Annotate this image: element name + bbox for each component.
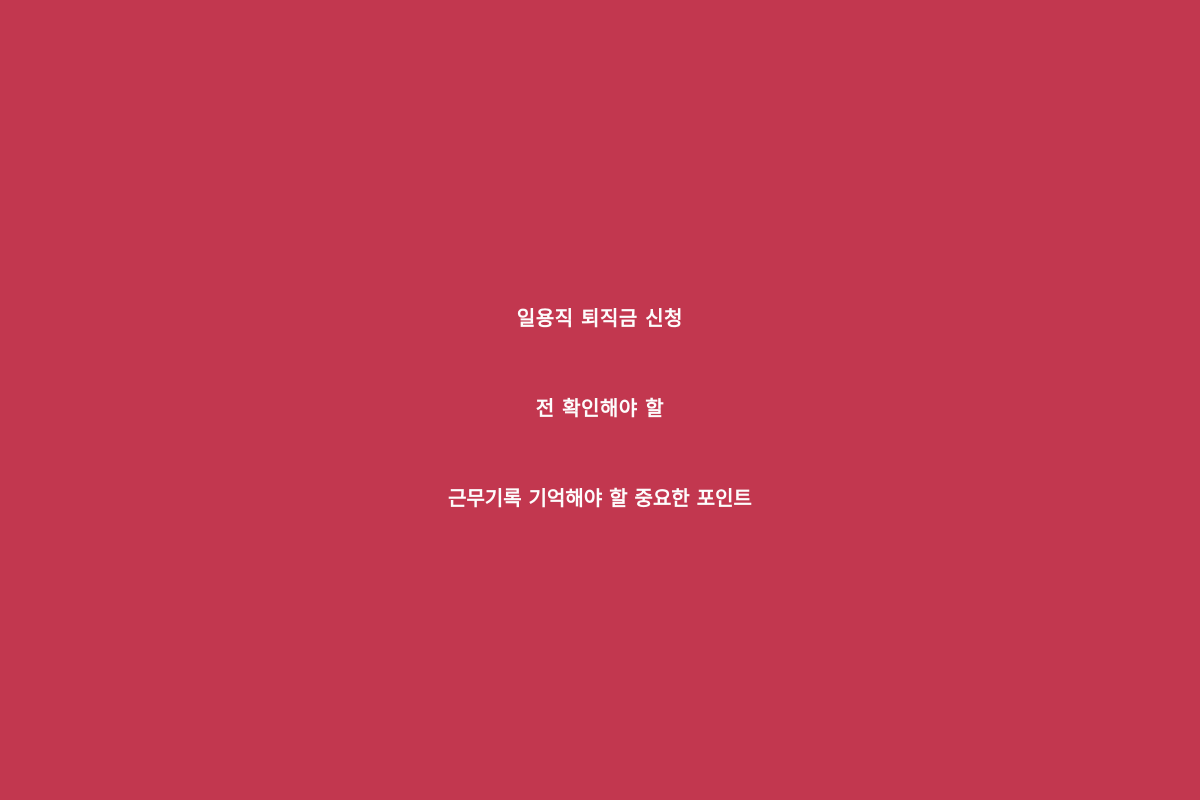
page-title: 일용직 퇴직금 신청 전 확인해야 할 근무기록 기억해야 할 중요한 포인트 bbox=[0, 273, 1200, 543]
headline-line-2: 전 확인해야 할 bbox=[10, 363, 1190, 453]
banner-canvas: 일용직 퇴직금 신청 전 확인해야 할 근무기록 기억해야 할 중요한 포인트 bbox=[0, 0, 1200, 800]
headline-line-3: 근무기록 기억해야 할 중요한 포인트 bbox=[10, 453, 1190, 543]
headline-line-1: 일용직 퇴직금 신청 bbox=[10, 273, 1190, 363]
